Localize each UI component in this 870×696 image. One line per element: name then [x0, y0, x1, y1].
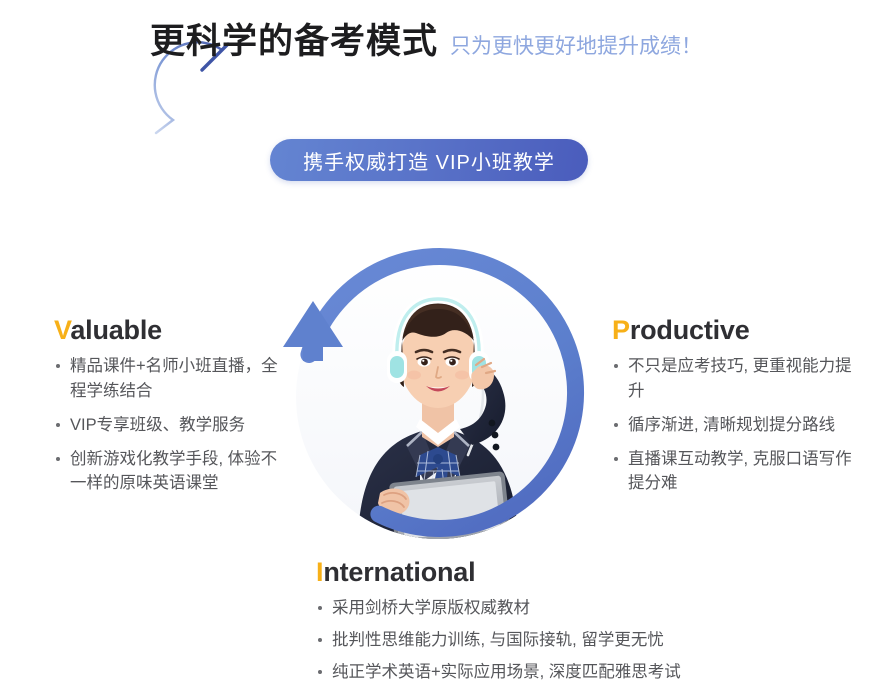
- list-item: 直播课互动教学, 克服口语写作提分难: [612, 447, 862, 497]
- poster-header: 更科学的备考模式 只为更快更好地提升成绩！: [0, 24, 870, 104]
- vip-class-badge: 携手权威打造 VIP小班教学: [270, 139, 588, 181]
- list-item: 批判性思维能力训练, 与国际接轨, 留学更无忧: [316, 628, 786, 653]
- vip-class-badge-label: 携手权威打造 VIP小班教学: [303, 146, 555, 175]
- feature-title-international: International: [316, 558, 786, 586]
- list-item: 精品课件+名师小班直播，全程学练结合: [54, 354, 286, 404]
- feature-bullets-international: 采用剑桥大学原版权威教材 批判性思维能力训练, 与国际接轨, 留学更无忧 纯正学…: [316, 596, 786, 684]
- list-item: VIP专享班级、教学服务: [54, 413, 286, 438]
- feature-block-productive: Productive 不只是应考技巧, 更重视能力提升 循序渐进, 清晰规划提分…: [612, 316, 862, 496]
- center-circle-stage: [278, 237, 598, 557]
- promo-poster: 更科学的备考模式 只为更快更好地提升成绩！ 携手权威打造 VIP小班教学: [0, 0, 870, 696]
- feature-initial-letter: V: [54, 315, 70, 345]
- feature-bullets-productive: 不只是应考技巧, 更重视能力提升 循序渐进, 清晰规划提分路线 直播课互动教学,…: [612, 354, 862, 496]
- page-subtitle: 只为更快更好地提升成绩！: [450, 36, 702, 57]
- list-item: 不只是应考技巧, 更重视能力提升: [612, 354, 862, 404]
- feature-bullets-valuable: 精品课件+名师小班直播，全程学练结合 VIP专享班级、教学服务 创新游戏化教学手…: [54, 354, 286, 496]
- list-item: 采用剑桥大学原版权威教材: [316, 596, 786, 621]
- feature-initial-letter: P: [612, 315, 630, 345]
- feature-block-international: International 采用剑桥大学原版权威教材 批判性思维能力训练, 与国…: [316, 558, 786, 692]
- list-item: 循序渐进, 清晰规划提分路线: [612, 413, 862, 438]
- feature-title-rest: roductive: [630, 315, 750, 345]
- feature-title-rest: nternational: [323, 557, 475, 587]
- feature-title-productive: Productive: [612, 316, 862, 344]
- feature-title-valuable: Valuable: [54, 316, 286, 344]
- feature-title-rest: aluable: [70, 315, 162, 345]
- feature-block-valuable: Valuable 精品课件+名师小班直播，全程学练结合 VIP专享班级、教学服务…: [54, 316, 286, 496]
- list-item: 创新游戏化教学手段, 体验不一样的原味英语课堂: [54, 447, 286, 497]
- circular-arrow-ring-icon: [278, 237, 598, 557]
- list-item: 纯正学术英语+实际应用场景, 深度匹配雅思考试: [316, 660, 786, 685]
- page-title: 更科学的备考模式: [150, 24, 438, 59]
